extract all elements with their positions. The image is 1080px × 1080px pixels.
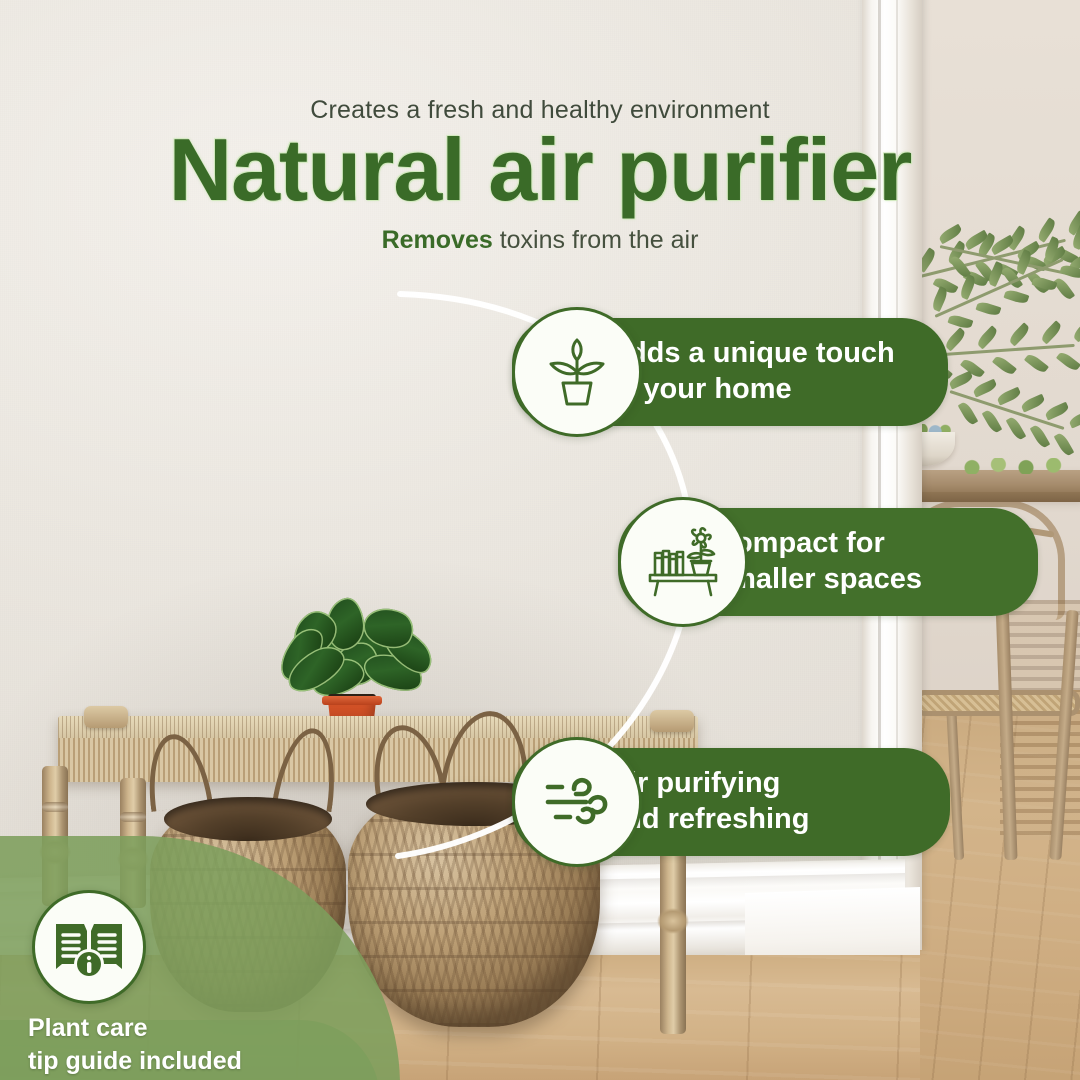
bench-top [58, 716, 698, 738]
olive-leaf [1068, 410, 1080, 429]
feature-adds-unique-touch[interactable]: Adds a unique touch to your home [512, 318, 948, 426]
subline: Removes toxins from the air [0, 226, 1080, 255]
olive-leaf [1039, 320, 1063, 344]
open-book-info-icon [52, 912, 126, 982]
olive-leaf [1053, 276, 1075, 301]
feature-icon-bubble-1 [512, 307, 642, 437]
bench-knob [650, 710, 694, 732]
olive-leaf [1003, 288, 1029, 305]
olive-leaf [958, 274, 977, 300]
olive-leaf [975, 325, 999, 349]
feature-air-purifying[interactable]: Air purifying and refreshing [512, 748, 950, 856]
olive-leaf [930, 286, 949, 312]
olive-leaf [1020, 394, 1046, 413]
olive-leaf [958, 400, 979, 426]
feature-icon-bubble-3 [512, 737, 642, 867]
subline-rest: toxins from the air [493, 226, 699, 254]
olive-leaf [1056, 350, 1080, 373]
dining-chair-seat [915, 690, 1080, 716]
olive-leaf [1030, 424, 1051, 450]
care-guide-label: Plant care tip guide included [28, 1012, 328, 1077]
olive-leaf [992, 354, 1017, 377]
care-guide-icon-bubble [32, 890, 146, 1004]
olive-leaf [1044, 402, 1070, 421]
olive-leaf [1006, 416, 1027, 442]
olive-leaf [996, 386, 1022, 405]
page-title: Natural air purifier [0, 126, 1080, 214]
olive-leaf [1054, 432, 1075, 458]
table-greens [960, 458, 1080, 474]
olive-leaf [972, 378, 998, 397]
infographic-canvas: Creates a fresh and healthy environment … [0, 0, 1080, 1080]
olive-leaf [975, 301, 1001, 318]
subline-emphasis: Removes [382, 226, 493, 254]
olive-leaf [982, 408, 1003, 434]
wind-airflow-icon [536, 765, 618, 839]
bench-knob [84, 706, 128, 728]
feature-icon-bubble-2 [618, 497, 748, 627]
olive-leaf [1071, 318, 1080, 342]
olive-leaf [1024, 352, 1049, 375]
shelf-with-plant-icon [642, 521, 724, 603]
feature-compact-smaller-spaces[interactable]: Compact for smaller spaces [618, 508, 1038, 616]
potted-plant-icon [538, 333, 616, 411]
olive-leaf [1007, 323, 1031, 347]
